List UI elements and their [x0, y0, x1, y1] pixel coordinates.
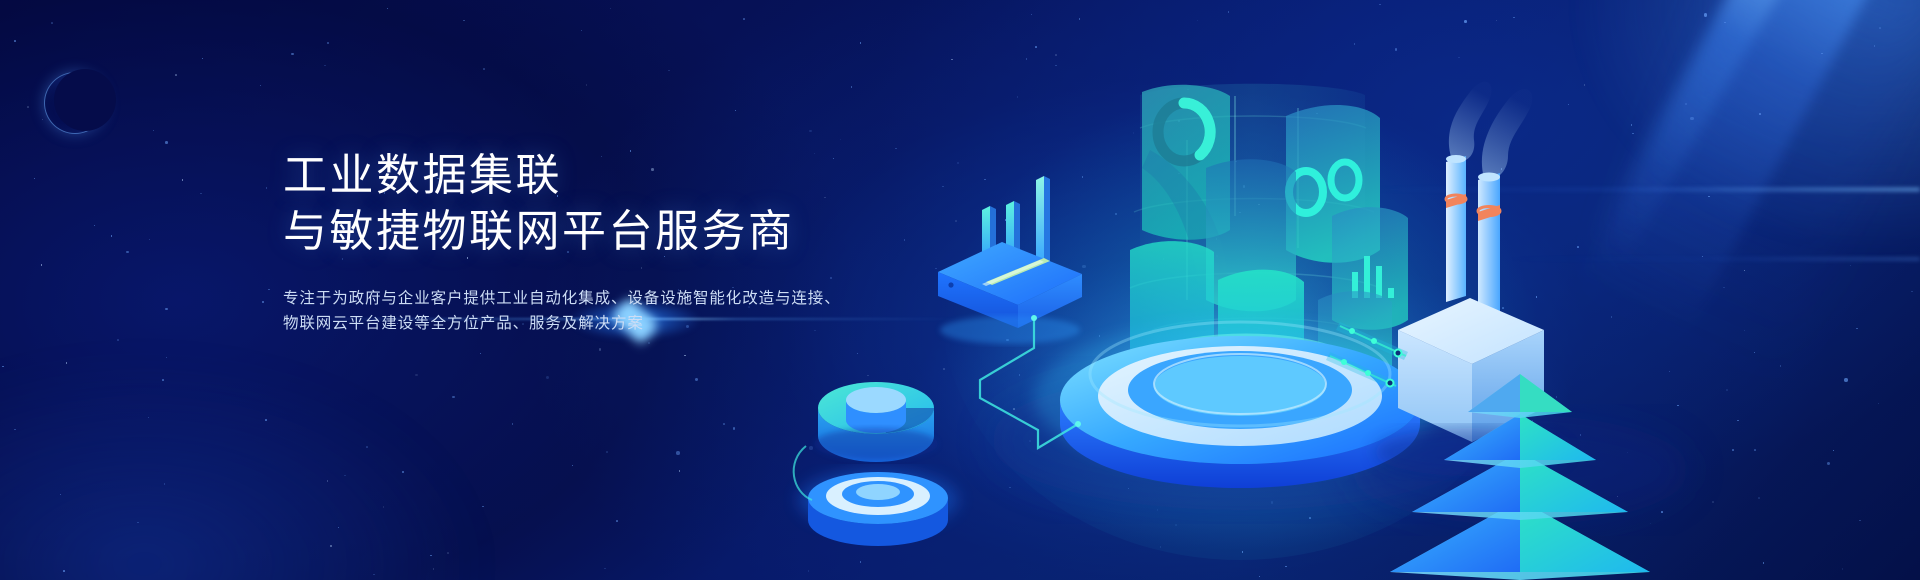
smoke-plume-right — [1482, 89, 1532, 180]
subtitle-line-2: 物联网云平台建设等全方位产品、服务及解决方案 — [283, 311, 903, 336]
hero-subtitle: 专注于为政府与企业客户提供工业自动化集成、设备设施智能化改造与连接、 物联网云平… — [283, 286, 903, 336]
chimney-left-rim — [1446, 155, 1466, 163]
hero-banner: 工业数据集联 与敏捷物联网平台服务商 专注于为政府与企业客户提供工业自动化集成、… — [0, 0, 1920, 580]
page-title: 工业数据集联 与敏捷物联网平台服务商 — [283, 148, 903, 260]
disc-core — [1154, 356, 1326, 416]
pie-inner-top — [846, 387, 906, 413]
chimney-right-rim — [1478, 173, 1500, 182]
router-port — [948, 282, 953, 287]
hero-copy: 工业数据集联 与敏捷物联网平台服务商 专注于为政府与企业客户提供工业自动化集成、… — [283, 148, 903, 336]
headline-line-1: 工业数据集联 — [283, 151, 562, 200]
headline-line-2: 与敏捷物联网平台服务商 — [283, 204, 903, 260]
pie-cylinder — [814, 382, 938, 462]
chimney-left-body — [1446, 156, 1466, 302]
pie-cylinder-shadow — [814, 428, 938, 460]
ring-disc — [798, 470, 958, 546]
ring-disc-center — [856, 484, 900, 500]
subtitle-line-1: 专注于为政府与企业客户提供工业自动化集成、设备设施智能化改造与连接、 — [283, 290, 841, 307]
